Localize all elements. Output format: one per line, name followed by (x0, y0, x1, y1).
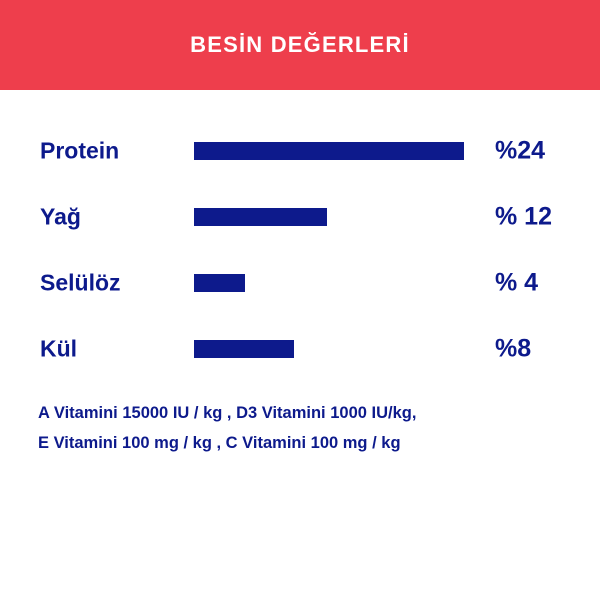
nutrient-value-yag: % 12 (495, 203, 552, 232)
table-row: Protein %24 (0, 118, 600, 184)
nutrient-label-kul: Kül (40, 336, 77, 363)
nutrition-label-card: BESİN DEĞERLERİ Protein %24 Yağ % 12 Sel… (0, 0, 600, 600)
header-banner: BESİN DEĞERLERİ (0, 0, 600, 90)
nutrient-bar-track-yag (194, 208, 466, 226)
table-row: Yağ % 12 (0, 184, 600, 250)
table-row: Kül %8 (0, 316, 600, 382)
vitamin-note-line-1: A Vitamini 15000 IU / kg , D3 Vitamini 1… (38, 398, 578, 428)
nutrient-value-kul: %8 (495, 335, 531, 364)
vitamin-note-line-2: E Vitamini 100 mg / kg , C Vitamini 100 … (38, 428, 578, 458)
nutrient-bar-fill-kul (194, 340, 294, 358)
page-title: BESİN DEĞERLERİ (190, 34, 410, 56)
nutrient-label-protein: Protein (40, 138, 119, 165)
nutrient-table: Protein %24 Yağ % 12 Selülöz % 4 Kül (0, 118, 600, 382)
nutrient-bar-fill-yag (194, 208, 327, 226)
vitamin-note: A Vitamini 15000 IU / kg , D3 Vitamini 1… (38, 398, 578, 458)
table-row: Selülöz % 4 (0, 250, 600, 316)
nutrient-label-yag: Yağ (40, 204, 81, 231)
nutrient-bar-track-seluloz (194, 274, 466, 292)
nutrient-bar-track-protein (194, 142, 466, 160)
nutrient-label-seluloz: Selülöz (40, 270, 121, 297)
nutrient-bar-track-kul (194, 340, 466, 358)
nutrient-value-seluloz: % 4 (495, 269, 538, 298)
nutrient-bar-fill-seluloz (194, 274, 245, 292)
nutrient-bar-fill-protein (194, 142, 464, 160)
nutrient-value-protein: %24 (495, 137, 545, 166)
